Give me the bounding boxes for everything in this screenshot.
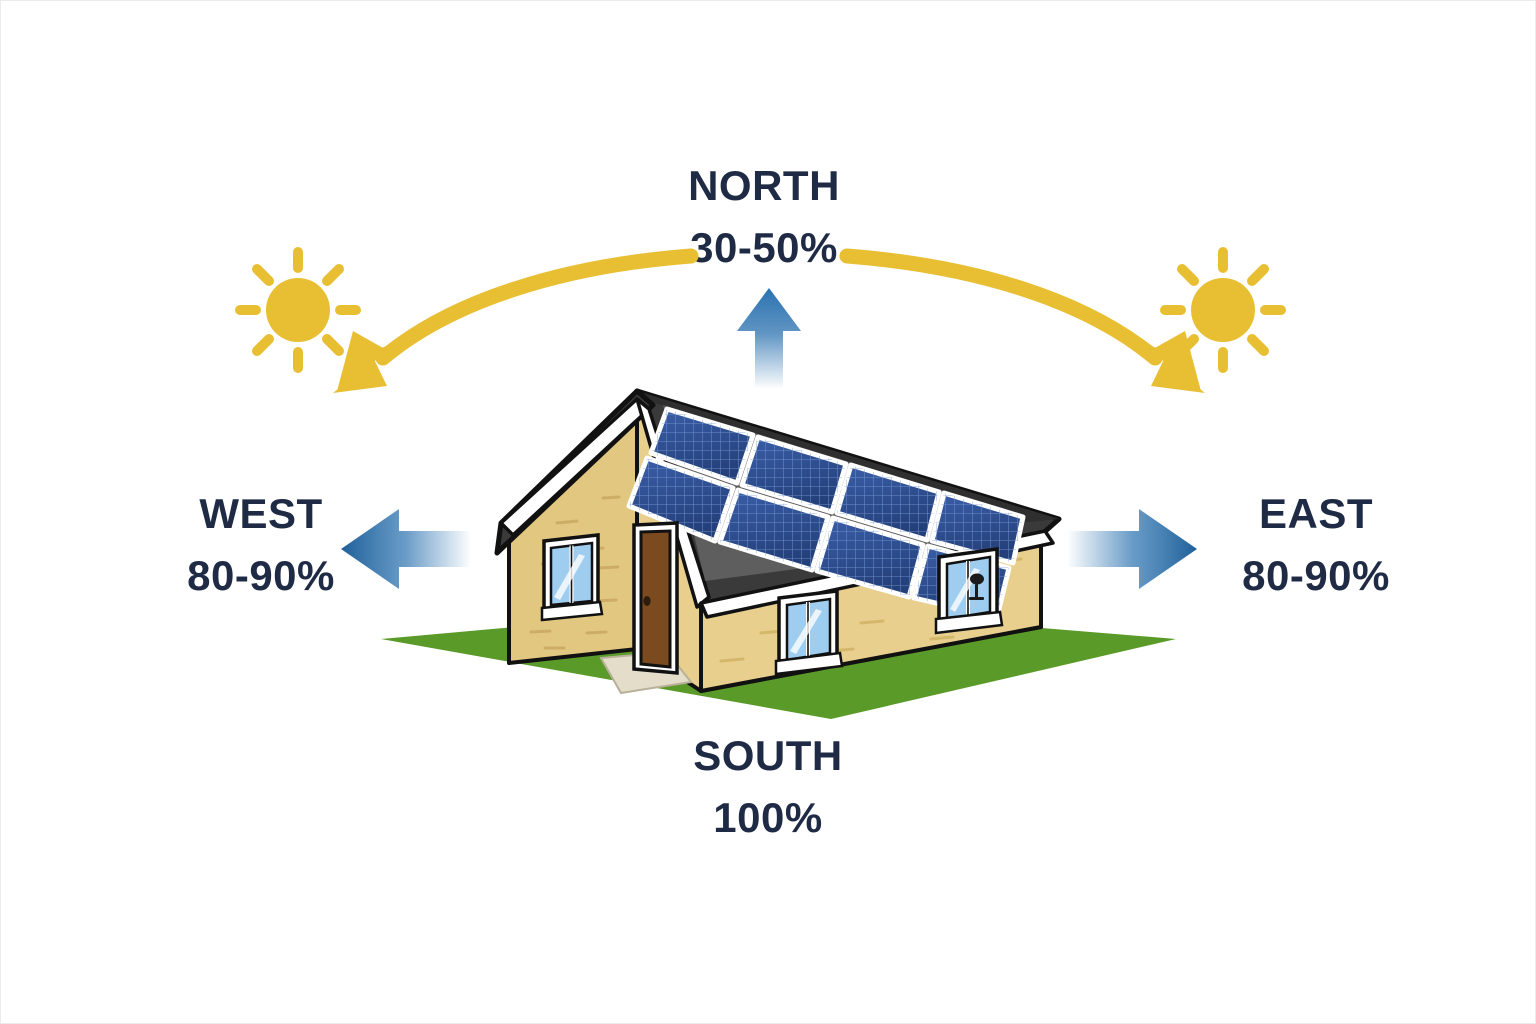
arrow-up-icon-north [737, 288, 801, 389]
front-door [634, 523, 677, 673]
window-right [936, 549, 1002, 633]
arrow-left-icon-west [341, 509, 471, 589]
artwork-layer [1, 1, 1536, 1024]
arrow-right-icon-east [1067, 509, 1197, 589]
door-knob-icon [643, 596, 650, 606]
sun-arc-arrow-left [333, 256, 691, 393]
house-illustration [381, 391, 1176, 719]
sun-arc-arrow-right [847, 256, 1205, 393]
window-middle [776, 591, 842, 674]
diagram-canvas: NORTH 30-50% SOUTH 100% WEST 80-90% EAST… [0, 0, 1536, 1024]
window-left [542, 535, 602, 620]
sun-icon-left [240, 252, 356, 368]
